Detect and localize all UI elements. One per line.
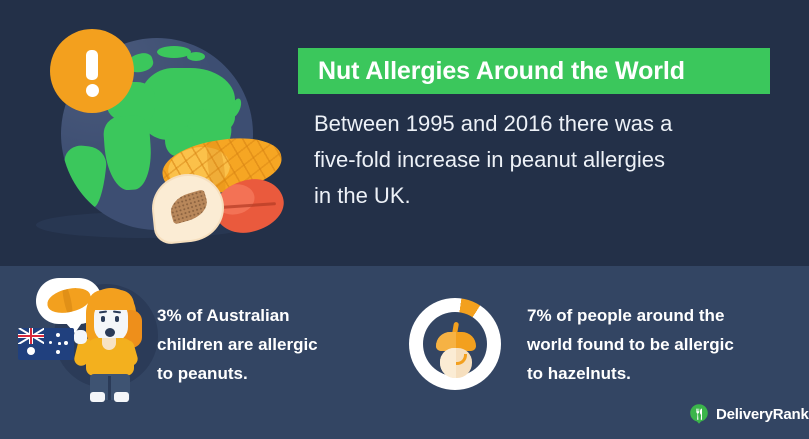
southern-cross-star-2 (64, 341, 68, 345)
stat-right-line-2: world found to be allergic (527, 330, 783, 359)
landmass-arctic-b (187, 52, 205, 61)
stat-australian-children-text: 3% of Australian children are allergic t… (157, 301, 357, 388)
stat-left-line-1: 3% of Australian (157, 301, 357, 330)
deliveryrank-logo[interactable]: DeliveryRank (688, 402, 809, 426)
exclamation-dot (86, 84, 99, 97)
child-eye-right (115, 316, 119, 322)
exclamation-bar (86, 50, 98, 80)
landmass-africa (102, 114, 153, 191)
union-jack-horizontal-red (18, 335, 44, 337)
nut-cluster-icon (148, 136, 288, 242)
child-fringe (88, 290, 134, 310)
title-banner: Nut Allergies Around the World (298, 48, 770, 94)
child-hand-left (74, 330, 87, 344)
infographic-canvas: Nut Allergies Around the World Between 1… (0, 0, 809, 439)
lede-paragraph: Between 1995 and 2016 there was a five-f… (314, 106, 784, 214)
southern-cross-star-5 (58, 342, 61, 345)
child-mouth (105, 328, 115, 337)
stat-right-line-3: to hazelnuts. (527, 359, 783, 388)
allergic-child-illustration (18, 272, 158, 412)
child-shoe-right (114, 392, 129, 402)
lede-line-2: five-fold increase in peanut allergies (314, 142, 784, 178)
page-title: Nut Allergies Around the World (298, 57, 685, 86)
australia-flag-icon (18, 328, 74, 360)
stat-right-line-1: 7% of people around the (527, 301, 783, 330)
stat-hazelnut-text: 7% of people around the world found to b… (527, 301, 783, 388)
southern-cross-star-3 (56, 350, 60, 354)
lede-line-1: Between 1995 and 2016 there was a (314, 106, 784, 142)
commonwealth-star (27, 347, 35, 355)
hero-illustration (0, 0, 300, 266)
peanut-icon-waist (60, 285, 74, 317)
southern-cross-star-4 (49, 341, 52, 344)
lede-line-3: in the UK. (314, 178, 784, 214)
stat-left-line-2: children are allergic (157, 330, 357, 359)
child-shoe-left (90, 392, 105, 402)
child-figure (74, 288, 144, 400)
acorn-icon (436, 322, 476, 368)
landmass-south-america (61, 144, 108, 208)
landmass-arctic-a (157, 46, 191, 58)
southern-cross-star-1 (56, 333, 60, 337)
deliveryrank-wordmark: DeliveryRank (716, 406, 809, 423)
donut-chart (409, 298, 501, 390)
child-eye-left (101, 316, 105, 322)
child-leg-divider (108, 376, 111, 400)
deliveryrank-leaf-fork-icon (688, 403, 710, 425)
stat-left-line-3: to peanuts. (157, 359, 357, 388)
exclamation-mark-icon (50, 29, 134, 113)
